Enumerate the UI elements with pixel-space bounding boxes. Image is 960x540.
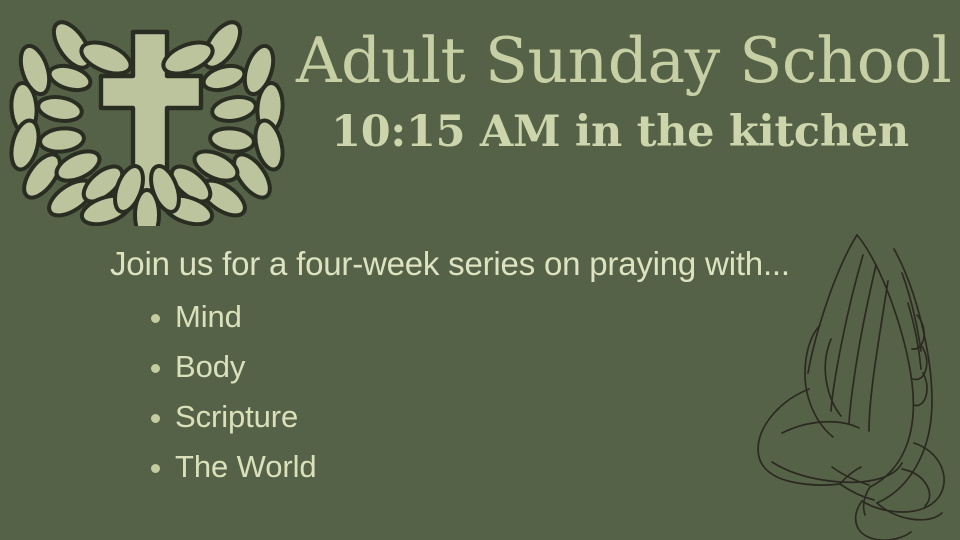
list-item-label: The World: [175, 449, 317, 484]
slide-canvas: Adult Sunday School 10:15 AM in the kitc…: [0, 0, 960, 540]
heading-block: Adult Sunday School 10:15 AM in the kitc…: [296, 28, 944, 156]
page-subtitle: 10:15 AM in the kitchen: [296, 109, 944, 156]
list-item-label: Mind: [175, 299, 242, 334]
cross-laurel-wreath-icon: [2, 8, 292, 226]
page-title: Adult Sunday School: [296, 28, 944, 95]
list-item-label: Scripture: [175, 399, 298, 434]
praying-hands-icon: [736, 219, 960, 540]
list-item-label: Body: [175, 349, 245, 384]
